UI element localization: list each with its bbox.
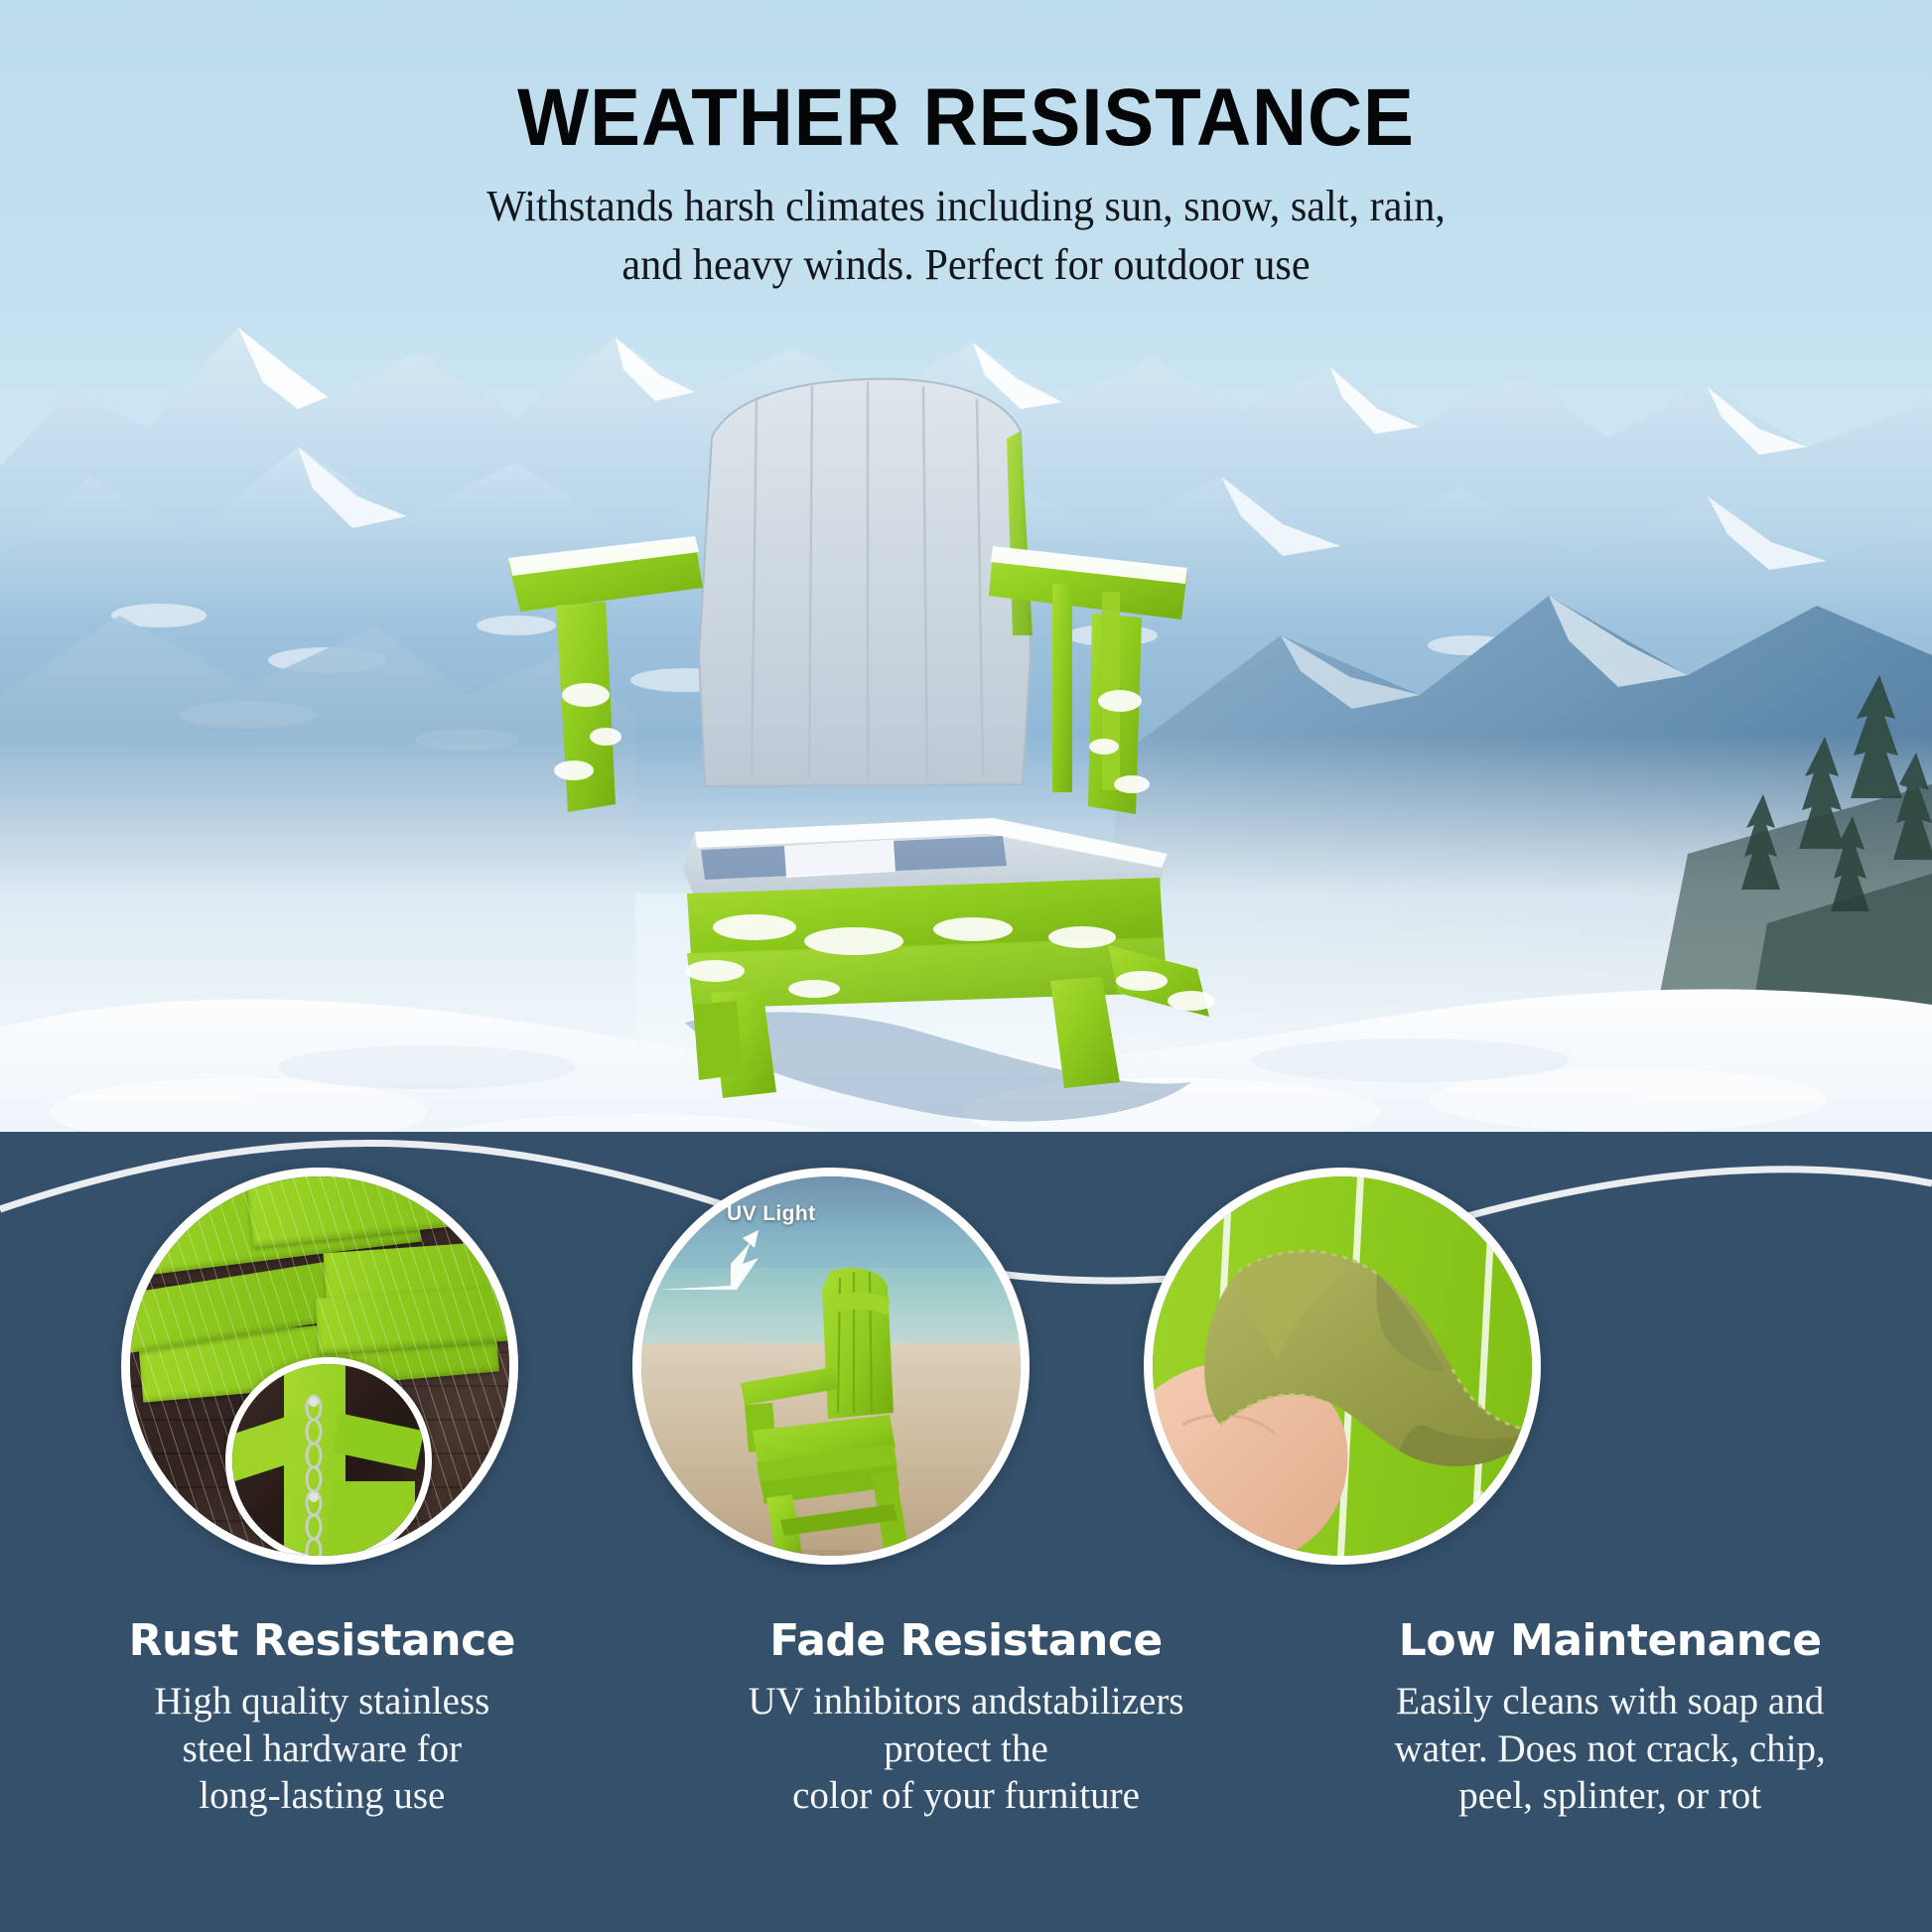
feature-body-line: protect the — [678, 1725, 1255, 1773]
hand-with-cloth-illustration — [1144, 1212, 1541, 1565]
uv-light-arrow-icon — [655, 1228, 784, 1308]
feature-card-low-maintenance: Low Maintenance Easily cleans with soap … — [1288, 1618, 1932, 1820]
feature-card-fade-resistance: Fade Resistance UV inhibitors andstabili… — [644, 1618, 1289, 1820]
feature-text-row: Rust Resistance High quality stainless s… — [0, 1618, 1932, 1820]
stainless-hardware-inset — [225, 1357, 432, 1564]
subtitle-line-2: and heavy winds. Perfect for outdoor use — [39, 235, 1893, 294]
feature-heading-rust-resistance: Rust Resistance — [34, 1618, 611, 1664]
feature-image-low-maintenance — [1144, 1168, 1541, 1565]
feature-heading-low-maintenance: Low Maintenance — [1321, 1618, 1898, 1664]
feature-body-line: UV inhibitors andstabilizers — [678, 1678, 1255, 1725]
header-block: WEATHER RESISTANCE Withstands harsh clim… — [0, 77, 1932, 295]
infographic-canvas: WEATHER RESISTANCE Withstands harsh clim… — [0, 0, 1932, 1932]
feature-heading-fade-resistance: Fade Resistance — [678, 1618, 1255, 1664]
feature-body-line: peel, splinter, or rot — [1321, 1772, 1898, 1820]
feature-body-line: long-lasting use — [34, 1772, 611, 1820]
feature-body-line: High quality stainless — [34, 1678, 611, 1725]
page-title: WEATHER RESISTANCE — [68, 77, 1864, 159]
feature-body-line: Easily cleans with soap and — [1321, 1678, 1898, 1725]
feature-image-row: UV Light — [0, 1162, 1932, 1598]
water-droplet — [1474, 1490, 1484, 1500]
stainless-chain-icon — [294, 1394, 334, 1564]
feature-body-line: steel hardware for — [34, 1725, 611, 1773]
beach-chair-illustration — [681, 1264, 1009, 1562]
feature-body-line: water. Does not crack, chip, — [1321, 1725, 1898, 1773]
feature-body-rust-resistance: High quality stainless steel hardware fo… — [34, 1678, 611, 1820]
feature-body-fade-resistance: UV inhibitors andstabilizers protect the… — [678, 1678, 1255, 1820]
page-subtitle: Withstands harsh climates including sun,… — [39, 177, 1893, 295]
feature-image-rust-resistance — [121, 1168, 518, 1565]
feature-image-fade-resistance: UV Light — [632, 1168, 1030, 1565]
feature-body-line: color of your furniture — [678, 1772, 1255, 1820]
feature-body-low-maintenance: Easily cleans with soap and water. Does … — [1321, 1678, 1898, 1820]
feature-card-rust-resistance: Rust Resistance High quality stainless s… — [0, 1618, 644, 1820]
subtitle-line-1: Withstands harsh climates including sun,… — [39, 177, 1893, 235]
uv-light-label: UV Light — [727, 1202, 816, 1226]
